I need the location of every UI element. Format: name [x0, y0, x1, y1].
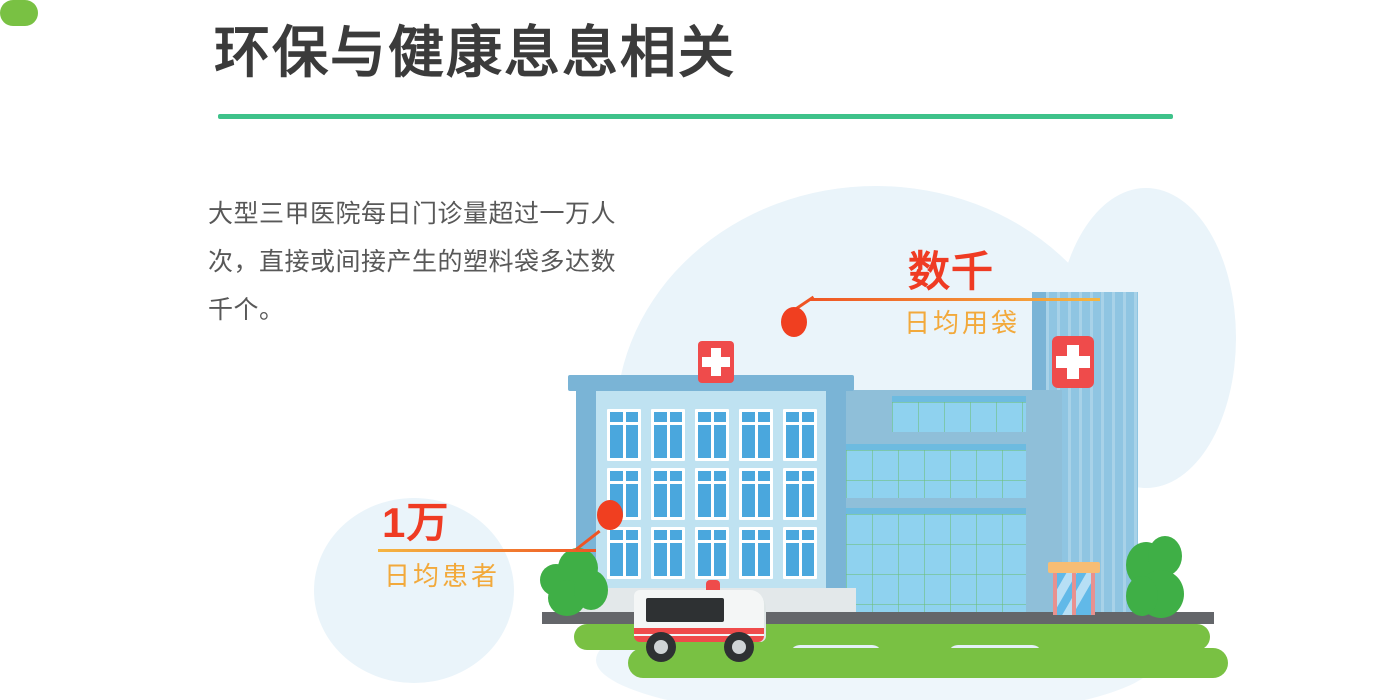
glass-panel: [892, 396, 1026, 432]
callout-bags-anchor-dot: [781, 307, 807, 337]
building-window: [783, 468, 817, 520]
page-title: 环保与健康息息相关: [214, 22, 736, 84]
building-window: [695, 409, 729, 461]
building-window: [651, 409, 685, 461]
building-window: [739, 468, 773, 520]
main-building-window-grid: [607, 409, 817, 579]
callout-patients-label: 日均患者: [384, 556, 500, 593]
ambulance: [628, 570, 776, 665]
ambulance-wheel-front: [724, 632, 754, 662]
bush-left: [540, 548, 610, 618]
callout-patients-anchor-dot: [597, 500, 623, 530]
building-window: [651, 468, 685, 520]
building-window: [783, 409, 817, 461]
tower-entrance-awning: [1048, 562, 1100, 573]
bush-small-foreground: [0, 0, 38, 26]
ambulance-wheel-rear: [646, 632, 676, 662]
callout-bags-rule: [810, 298, 1100, 301]
building-window: [783, 527, 817, 579]
building-window: [607, 409, 641, 461]
callout-bags-label: 日均用袋: [904, 303, 1020, 340]
building-window: [695, 468, 729, 520]
callout-patients-rule: [378, 549, 596, 552]
callout-patients-value: 1万: [382, 489, 449, 550]
bush-right: [1126, 536, 1200, 620]
red-cross-sign-main: [698, 341, 734, 383]
building-window: [739, 409, 773, 461]
glass-panel: [846, 508, 1026, 618]
slide-canvas: 环保与健康息息相关 大型三甲医院每日门诊量超过一万人次，直接或间接产生的塑料袋多…: [0, 0, 1400, 700]
callout-bags-value: 数千: [908, 238, 994, 299]
title-underline-rule: [218, 114, 1173, 119]
red-cross-sign-tower: [1052, 336, 1094, 388]
ambulance-side-window: [646, 598, 724, 622]
glass-panel: [846, 444, 1026, 498]
tower-door-mullion: [1072, 573, 1076, 615]
body-paragraph: 大型三甲医院每日门诊量超过一万人次，直接或间接产生的塑料袋多达数千个。: [208, 190, 638, 334]
